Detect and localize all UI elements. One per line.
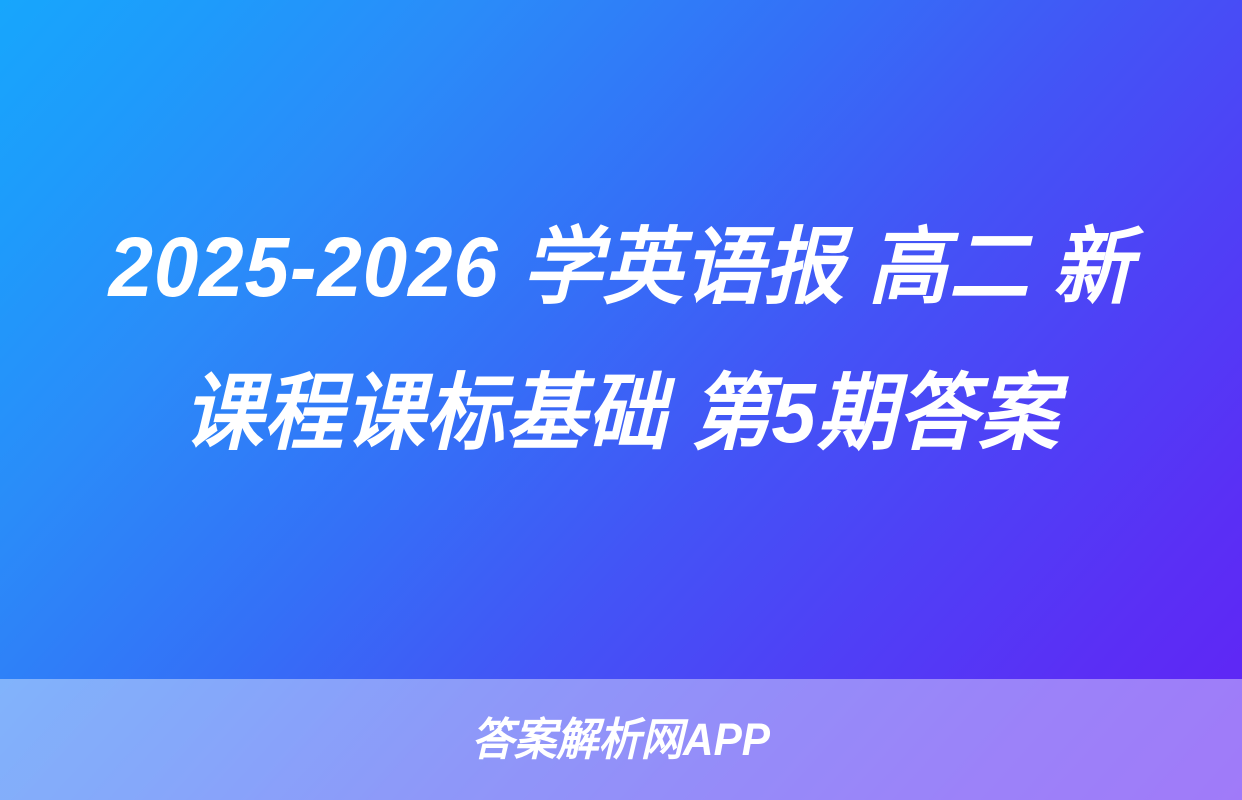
page-title: 2025-2026 学英语报 高二 新课程课标基础 第5期答案 — [82, 194, 1159, 486]
app-brand-label: 答案解析网APP — [472, 717, 770, 762]
footer-brand-band: 答案解析网APP — [0, 679, 1242, 800]
poster-canvas: 2025-2026 学英语报 高二 新课程课标基础 第5期答案 答案解析网APP — [0, 0, 1242, 800]
hero-section: 2025-2026 学英语报 高二 新课程课标基础 第5期答案 — [0, 0, 1242, 679]
